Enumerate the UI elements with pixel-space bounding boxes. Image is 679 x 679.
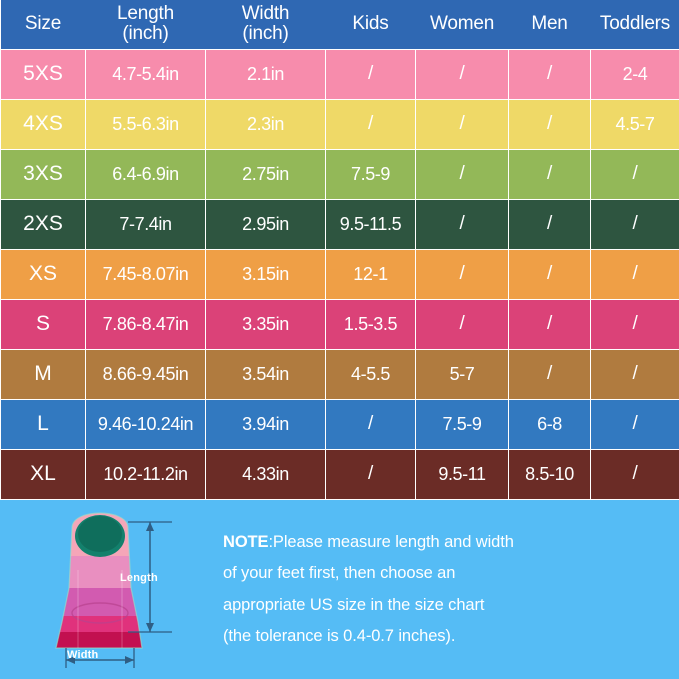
column-header-length-unit: (inch) (87, 24, 205, 45)
cell-width: 2.75in (206, 149, 326, 199)
cell-width: 4.33in (206, 449, 326, 499)
cell-women: / (416, 49, 509, 99)
cell-width: 2.95in (206, 199, 326, 249)
cell-length: 5.5-6.3in (86, 99, 206, 149)
cell-width: 2.1in (206, 49, 326, 99)
cell-size: XL (1, 449, 86, 499)
cell-size: 3XS (1, 149, 86, 199)
cell-width: 2.3in (206, 99, 326, 149)
table-row: M8.66-9.45in3.54in4-5.55-7// (1, 349, 679, 399)
footer-note-section: Length Width NOTE:Please measure length … (0, 500, 679, 679)
cell-length: 9.46-10.24in (86, 399, 206, 449)
cell-kids: 4-5.5 (326, 349, 416, 399)
cell-length: 7.86-8.47in (86, 299, 206, 349)
column-header-men-label: Men (531, 13, 567, 34)
column-header-width: Width (inch) (206, 0, 326, 49)
cell-kids: 7.5-9 (326, 149, 416, 199)
note-line-4: (the tolerance is 0.4-0.7 inches). (223, 621, 661, 653)
cell-size: 5XS (1, 49, 86, 99)
cell-men: / (509, 249, 591, 299)
cell-men: / (509, 349, 591, 399)
table-row: 2XS7-7.4in2.95in9.5-11.5/// (1, 199, 679, 249)
table-header: Size Length (inch) Width (inch) Kids Wom… (1, 0, 679, 49)
size-chart-table: Size Length (inch) Width (inch) Kids Wom… (0, 0, 679, 500)
table-row: L9.46-10.24in3.94in/7.5-96-8/ (1, 399, 679, 449)
column-header-kids-label: Kids (352, 13, 388, 34)
cell-women: / (416, 99, 509, 149)
column-header-women-label: Women (430, 13, 494, 34)
length-dimension-label: Length (120, 572, 158, 584)
column-header-size: Size (1, 0, 86, 49)
cell-width: 3.54in (206, 349, 326, 399)
length-arrow-down (146, 623, 154, 632)
cell-men: / (509, 149, 591, 199)
cell-men: / (509, 199, 591, 249)
note-line-3: appropriate US size in the size chart (223, 589, 661, 621)
cell-kids: / (326, 49, 416, 99)
fin-foot-pocket-inner (78, 516, 122, 552)
note-line-2: of your feet first, then choose an (223, 558, 661, 590)
cell-kids: 9.5-11.5 (326, 199, 416, 249)
cell-toddlers: / (591, 399, 679, 449)
cell-toddlers: 4.5-7 (591, 99, 679, 149)
header-row: Size Length (inch) Width (inch) Kids Wom… (1, 0, 679, 49)
note-text-panel: NOTE:Please measure length and width of … (215, 500, 679, 679)
cell-size: XS (1, 249, 86, 299)
column-header-length: Length (inch) (86, 0, 206, 49)
cell-length: 7.45-8.07in (86, 249, 206, 299)
cell-women: / (416, 149, 509, 199)
cell-width: 3.94in (206, 399, 326, 449)
cell-toddlers: / (591, 449, 679, 499)
cell-women: / (416, 199, 509, 249)
cell-toddlers: / (591, 199, 679, 249)
cell-toddlers: / (591, 149, 679, 199)
cell-kids: / (326, 99, 416, 149)
cell-size: M (1, 349, 86, 399)
column-header-men: Men (509, 0, 591, 49)
cell-length: 7-7.4in (86, 199, 206, 249)
column-header-toddlers: Toddlers (591, 0, 679, 49)
cell-women: 9.5-11 (416, 449, 509, 499)
cell-men: / (509, 49, 591, 99)
column-header-width-label: Width (242, 3, 290, 24)
cell-men: / (509, 99, 591, 149)
cell-size: S (1, 299, 86, 349)
cell-toddlers: / (591, 299, 679, 349)
cell-kids: / (326, 449, 416, 499)
cell-length: 6.4-6.9in (86, 149, 206, 199)
cell-men: / (509, 299, 591, 349)
column-header-length-label: Length (117, 3, 174, 24)
note-line-1: NOTE:Please measure length and width (223, 526, 661, 558)
column-header-women: Women (416, 0, 509, 49)
cell-women: 7.5-9 (416, 399, 509, 449)
cell-size: 2XS (1, 199, 86, 249)
table-row: 4XS5.5-6.3in2.3in///4.5-7 (1, 99, 679, 149)
cell-size: 4XS (1, 99, 86, 149)
table-body: 5XS4.7-5.4in2.1in///2-44XS5.5-6.3in2.3in… (1, 49, 679, 499)
cell-kids: 1.5-3.5 (326, 299, 416, 349)
cell-length: 8.66-9.45in (86, 349, 206, 399)
cell-men: 6-8 (509, 399, 591, 449)
cell-toddlers: / (591, 249, 679, 299)
cell-women: 5-7 (416, 349, 509, 399)
cell-men: 8.5-10 (509, 449, 591, 499)
width-arrow-right (125, 656, 134, 664)
cell-width: 3.35in (206, 299, 326, 349)
fin-illustration: Length Width (10, 510, 210, 670)
column-header-size-label: Size (25, 13, 61, 34)
cell-women: / (416, 299, 509, 349)
table-row: 5XS4.7-5.4in2.1in///2-4 (1, 49, 679, 99)
cell-width: 3.15in (206, 249, 326, 299)
length-arrow-up (146, 522, 154, 531)
table-row: XS7.45-8.07in3.15in12-1/// (1, 249, 679, 299)
note-label: NOTE (223, 533, 268, 551)
column-header-width-unit: (inch) (207, 24, 325, 45)
cell-size: L (1, 399, 86, 449)
cell-length: 4.7-5.4in (86, 49, 206, 99)
table-row: XL10.2-11.2in4.33in/9.5-118.5-10/ (1, 449, 679, 499)
swim-fin-icon (10, 510, 210, 670)
cell-toddlers: / (591, 349, 679, 399)
table-row: 3XS6.4-6.9in2.75in7.5-9/// (1, 149, 679, 199)
cell-kids: / (326, 399, 416, 449)
cell-women: / (416, 249, 509, 299)
note-line-1-text: :Please measure length and width (268, 533, 513, 551)
table-row: S7.86-8.47in3.35in1.5-3.5/// (1, 299, 679, 349)
fin-diagram-panel: Length Width (0, 500, 215, 679)
cell-kids: 12-1 (326, 249, 416, 299)
width-dimension-label: Width (67, 649, 98, 661)
size-chart-root: Size Length (inch) Width (inch) Kids Wom… (0, 0, 679, 679)
cell-length: 10.2-11.2in (86, 449, 206, 499)
column-header-kids: Kids (326, 0, 416, 49)
cell-toddlers: 2-4 (591, 49, 679, 99)
column-header-toddlers-label: Toddlers (600, 13, 670, 34)
